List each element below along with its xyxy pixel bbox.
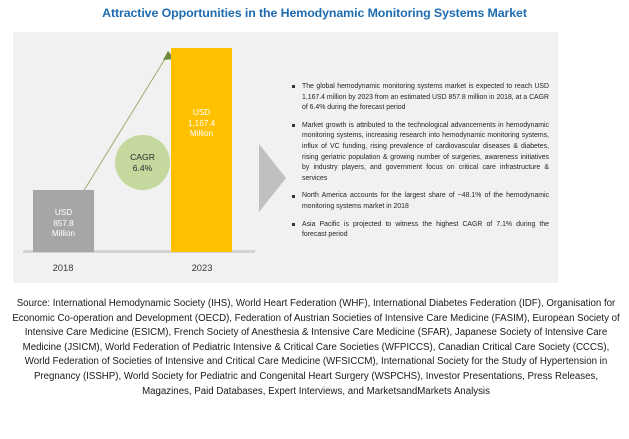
x-axis-label-2018: 2018 [33, 262, 93, 273]
bar-chart: USD 857.8 Million USD 1,167.4 Million 20… [13, 32, 263, 283]
list-item: Market growth is attributed to the techn… [291, 121, 549, 185]
bar-2023-label: USD 1,167.4 Million [171, 108, 232, 140]
x-axis-label-2023: 2023 [172, 262, 232, 273]
cagr-title: CAGR [130, 152, 155, 163]
bar-2018: USD 857.8 Million [33, 190, 94, 252]
cagr-value: 6.4% [133, 163, 153, 174]
page-title: Attractive Opportunities in the Hemodyna… [0, 6, 629, 20]
infographic-slide: Attractive Opportunities in the Hemodyna… [0, 0, 629, 439]
list-item: The global hemodynamic monitoring system… [291, 82, 549, 114]
cagr-bubble: CAGR 6.4% [115, 135, 170, 190]
highlights-list: The global hemodynamic monitoring system… [291, 82, 549, 248]
bar-2023: USD 1,167.4 Million [171, 48, 232, 252]
right-arrow-icon [259, 144, 286, 212]
bar-2018-label: USD 857.8 Million [33, 208, 94, 240]
list-item: Asia Pacific is projected to witness the… [291, 220, 549, 241]
source-note: Source: International Hemodynamic Societ… [10, 297, 622, 399]
list-item: North America accounts for the largest s… [291, 191, 549, 212]
content-panel: USD 857.8 Million USD 1,167.4 Million 20… [13, 32, 558, 283]
